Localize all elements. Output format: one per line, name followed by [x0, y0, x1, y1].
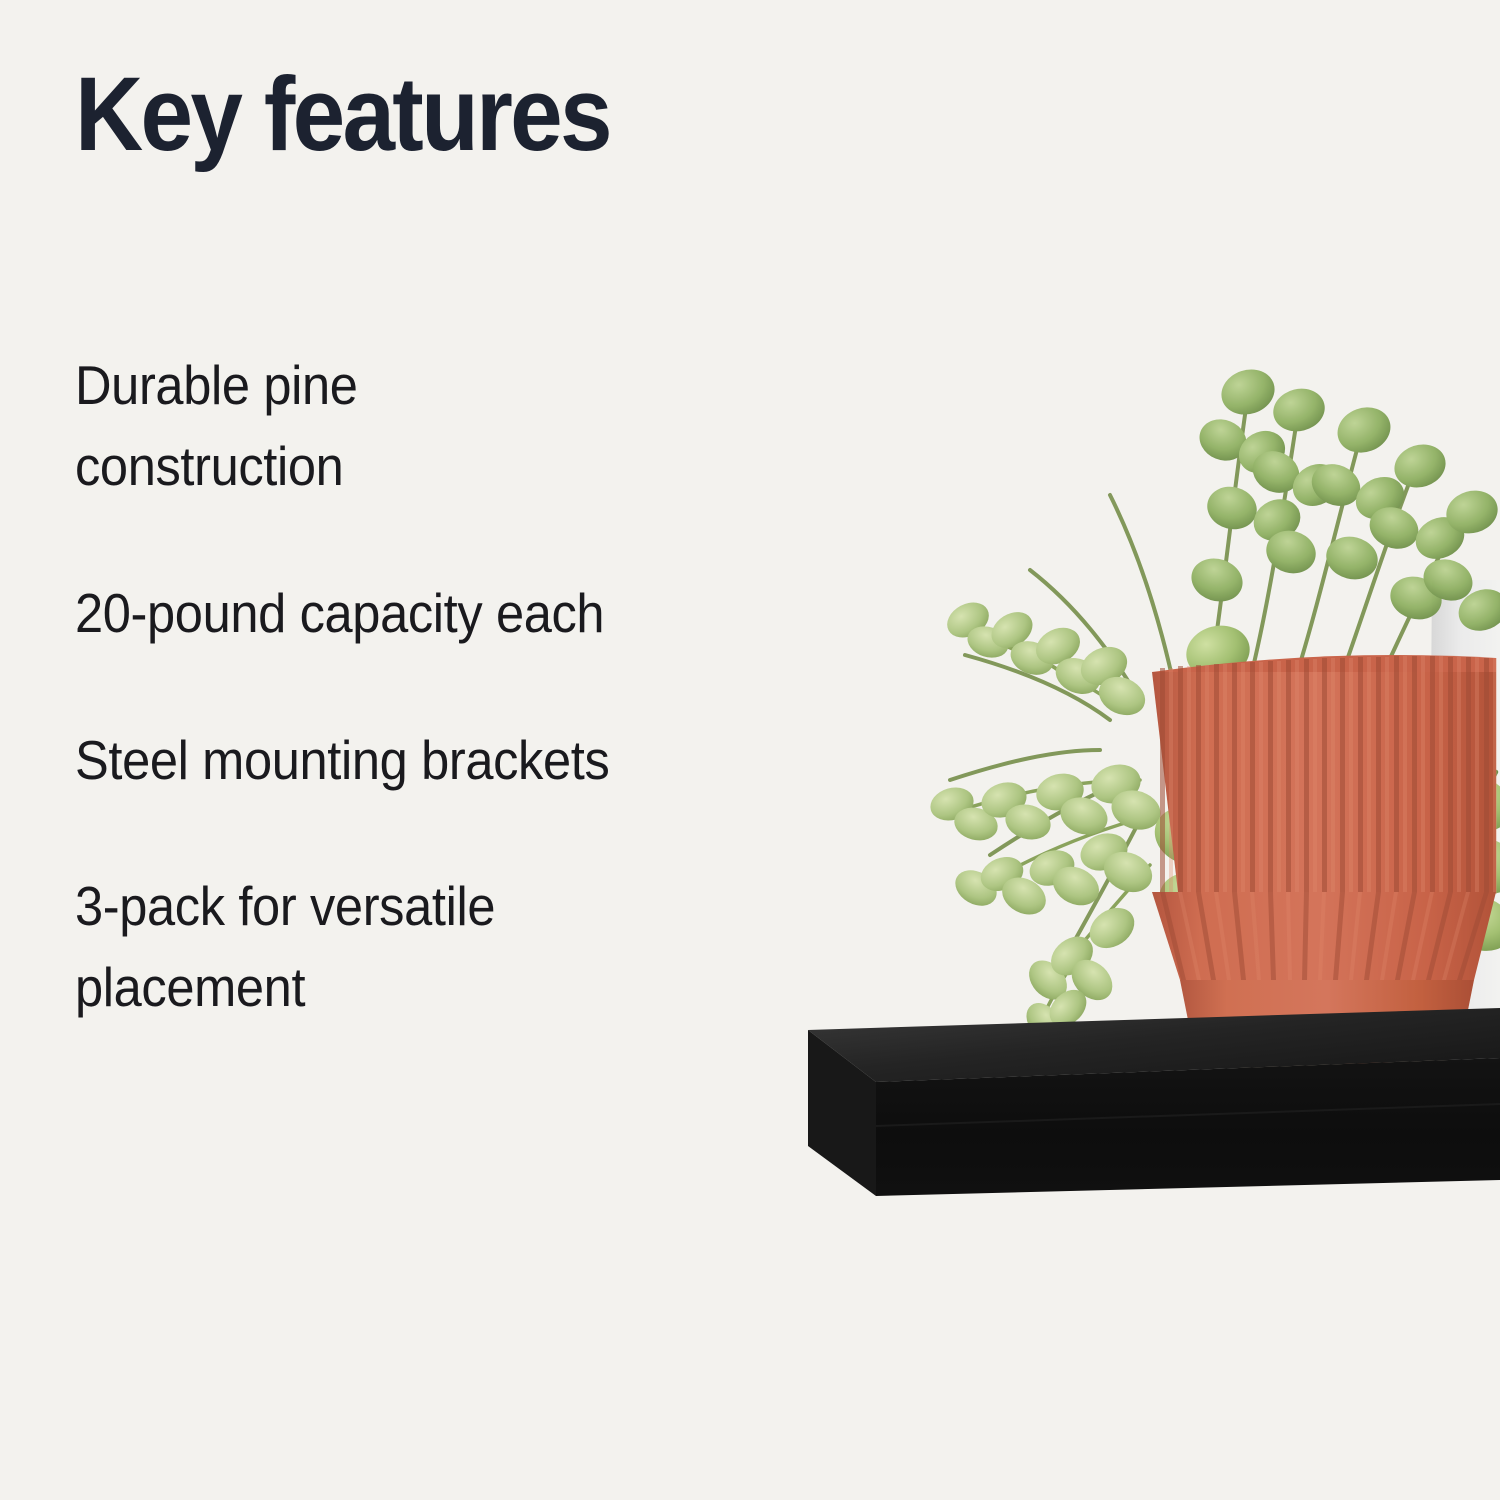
feature-line-1: Steel mounting brackets — [75, 720, 756, 801]
text-column: Key features Durable pine construction 2… — [75, 0, 815, 1500]
terracotta-plant-pot — [1152, 655, 1497, 1072]
product-photo-illustration — [780, 280, 1500, 1300]
feature-line-1: Durable pine — [75, 345, 756, 426]
feature-line-1: 20-pound capacity each — [75, 573, 756, 654]
shelf-front-face — [876, 1058, 1500, 1196]
feature-item-3-pack-versatile-placement: 3-pack for versatile placement — [75, 866, 756, 1028]
feature-item-20-pound-capacity: 20-pound capacity each — [75, 573, 756, 654]
product-photo — [780, 280, 1500, 1300]
black-floating-shelf — [808, 1008, 1500, 1196]
feature-line-1: 3-pack for versatile — [75, 866, 756, 947]
feature-line-2: placement — [75, 947, 756, 1028]
feature-list: Durable pine construction 20-pound capac… — [75, 345, 815, 1028]
feature-item-durable-pine-construction: Durable pine construction — [75, 345, 756, 507]
page-title: Key features — [75, 62, 610, 167]
feature-line-2: construction — [75, 426, 756, 507]
key-features-infographic: Key features Durable pine construction 2… — [0, 0, 1500, 1500]
feature-item-steel-mounting-brackets: Steel mounting brackets — [75, 720, 756, 801]
